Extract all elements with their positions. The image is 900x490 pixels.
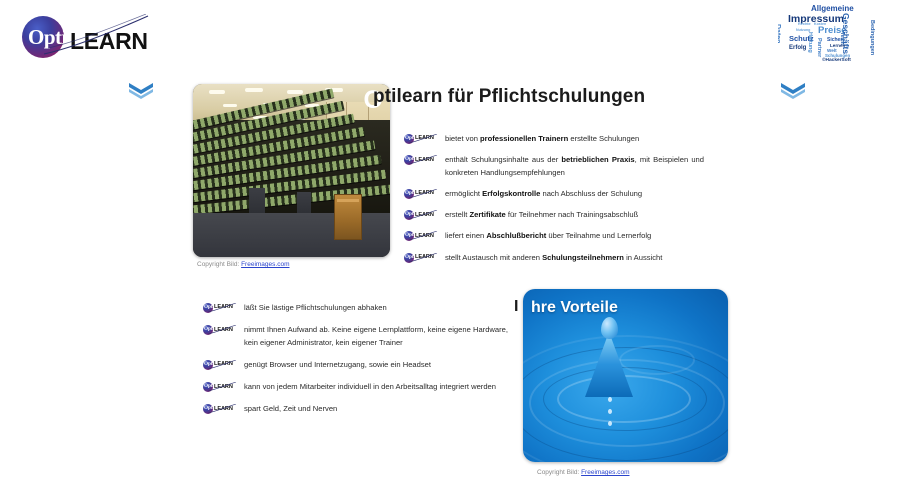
copyright-label: Copyright Bild: — [537, 469, 581, 476]
features-bullet-list: OptiLEARNbietet von professionellen Trai… — [404, 133, 704, 273]
word-cloud-term: Kosten — [814, 23, 826, 27]
word-cloud-term: Rechte — [798, 23, 811, 27]
bullet-item: OptiLEARNermöglicht Erfolgskontrolle nac… — [404, 188, 704, 200]
logo-swoosh-icon — [42, 14, 152, 58]
word-cloud-term: Team — [839, 32, 844, 45]
optilearn-bullet-icon: OptiLEARN — [404, 155, 440, 165]
optilearn-bullet-icon: OptiLEARN — [203, 404, 239, 414]
optilearn-bullet-icon: OptiLEARN — [203, 325, 239, 335]
optilearn-bullet-icon: OptiLEARN — [203, 360, 239, 370]
optilearn-bullet-icon: OptiLEARN — [203, 382, 239, 392]
optilearn-bullet-icon: OptiLEARN — [203, 303, 239, 313]
freeimages-link[interactable]: Freeimages.com — [581, 469, 629, 476]
bullet-text: genügt Browser und Internetzugang, sowie… — [244, 359, 508, 371]
word-cloud-term: Daten — [778, 24, 781, 43]
bullet-emphasis: Erfolgskontrolle — [482, 189, 540, 198]
bullet-emphasis: Schulungsteilnehmern — [542, 253, 624, 262]
lectern — [334, 194, 362, 240]
freeimages-link[interactable]: Freeimages.com — [241, 261, 289, 268]
bullet-text: erstellt Zertifikate für Teilnehmer nach… — [445, 209, 704, 221]
bullet-item: OptiLEARNkann von jedem Mitarbeiter indi… — [203, 381, 508, 393]
word-cloud-term: Nutzung — [796, 29, 810, 33]
impressum-word-cloud: AllgemeineImpressumPreiseGeschäftsBeding… — [778, 4, 886, 66]
copyright-label: Copyright Bild: — [197, 261, 241, 268]
bullet-text: nimmt Ihnen Aufwand ab. Keine eigene Ler… — [244, 324, 508, 349]
word-cloud-term: Bedingungen — [869, 20, 875, 55]
bullet-item: OptiLEARNenthält Schulungsinhalte aus de… — [404, 154, 704, 179]
bullet-item: OptiLEARNläßt Sie lästige Pflichtschulun… — [203, 302, 508, 314]
bullet-text: spart Geld, Zeit und Nerven — [244, 403, 508, 415]
bullet-text: liefert einen Abschlußbericht über Teiln… — [445, 230, 704, 242]
bullet-text: stellt Austausch mit anderen Schulungste… — [445, 252, 704, 264]
bullet-text: ermöglicht Erfolgskontrolle nach Abschlu… — [445, 188, 704, 200]
bullet-item: OptiLEARNnimmt Ihnen Aufwand ab. Keine e… — [203, 324, 508, 349]
benefits-bullet-list: OptiLEARNläßt Sie lästige Pflichtschulun… — [203, 302, 508, 426]
bullet-item: OptiLEARNspart Geld, Zeit und Nerven — [203, 403, 508, 415]
bullet-item: OptiLEARNliefert einen Abschlußbericht ü… — [404, 230, 704, 242]
water-copyright: Copyright Bild: Freeimages.com — [537, 469, 629, 476]
bullet-item: OptiLEARNstellt Austausch mit anderen Sc… — [404, 252, 704, 264]
lecture-hall-photo: O — [193, 84, 390, 257]
bullet-text: enthält Schulungsinhalte aus der betrieb… — [445, 154, 704, 179]
optilearn-logo: Opti LEARN — [22, 14, 152, 58]
bullet-item: OptiLEARNbietet von professionellen Trai… — [404, 133, 704, 145]
water-drop-photo: hre Vorteile — [523, 289, 728, 462]
page-title: ptilearn für Pflichtschulungen — [373, 86, 645, 108]
optilearn-bullet-icon: OptiLEARN — [404, 210, 440, 220]
bullet-item: OptiLEARNgenügt Browser und Internetzuga… — [203, 359, 508, 371]
slide-canvas: Opti LEARN AllgemeineImpressumPreiseGesc… — [0, 0, 900, 490]
optilearn-bullet-icon: OptiLEARN — [404, 134, 440, 144]
optilearn-bullet-icon: OptiLEARN — [404, 253, 440, 263]
word-cloud-term: Partner — [816, 38, 822, 57]
auditorium-copyright: Copyright Bild: Freeimages.com — [197, 261, 289, 268]
optilearn-bullet-icon: OptiLEARN — [404, 231, 440, 241]
word-cloud-term: Haftung — [807, 32, 813, 53]
water-droplet — [601, 317, 618, 339]
chevron-double-down-icon-right[interactable] — [778, 80, 808, 100]
bullet-emphasis: betrieblichen Praxis — [561, 155, 634, 164]
chevron-double-down-icon-left[interactable] — [126, 80, 156, 100]
bullet-text: kann von jedem Mitarbeiter individuell i… — [244, 381, 508, 393]
optilearn-bullet-icon: OptiLEARN — [404, 189, 440, 199]
benefits-heading: hre Vorteile — [531, 299, 618, 317]
bullet-emphasis: Zertifikate — [469, 210, 505, 219]
bullet-emphasis: professionellen Trainern — [480, 134, 568, 143]
word-cloud-term: ©HackerSoft — [822, 59, 851, 64]
bullet-text: bietet von professionellen Trainern erst… — [445, 133, 704, 145]
bullet-text: läßt Sie lästige Pflichtschulungen abhak… — [244, 302, 508, 314]
word-cloud-term: Erfolg — [789, 45, 806, 51]
bullet-emphasis: Abschlußbericht — [486, 231, 546, 240]
benefits-heading-initial: I — [514, 299, 518, 315]
bullet-item: OptiLEARNerstellt Zertifikate für Teilne… — [404, 209, 704, 221]
word-cloud-term: Allgemeine — [811, 5, 854, 13]
